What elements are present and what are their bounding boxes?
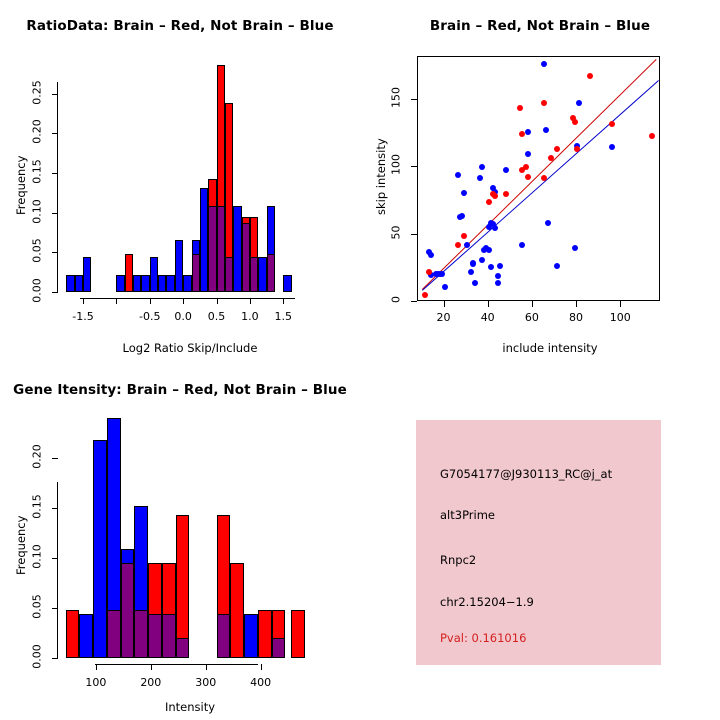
x-tick-label: 100 bbox=[76, 676, 116, 689]
scatter-point-brain bbox=[525, 174, 531, 180]
x-tick-mark bbox=[217, 298, 218, 304]
y-tick-label: 0.25 bbox=[31, 77, 44, 107]
histogram-bar-not-brain bbox=[233, 206, 241, 292]
ratio-hist-x-axis bbox=[80, 298, 295, 299]
histogram-bar-overlap bbox=[121, 563, 135, 658]
histogram-bar-not-brain bbox=[244, 614, 258, 658]
y-tick-mark bbox=[52, 558, 58, 559]
histogram-bar-not-brain bbox=[183, 275, 191, 292]
scatter-point-not-brain bbox=[543, 127, 549, 133]
x-tick-mark bbox=[183, 298, 184, 304]
info-gene-symbol: Rnpc2 bbox=[440, 553, 476, 567]
y-tick-mark bbox=[52, 133, 58, 134]
x-tick-mark bbox=[250, 298, 251, 304]
histogram-bar-not-brain bbox=[116, 275, 124, 292]
y-tick-label: 150 bbox=[390, 84, 403, 112]
scatter-point-brain bbox=[517, 105, 523, 111]
histogram-bar-overlap bbox=[217, 206, 225, 292]
scatter-point-not-brain bbox=[459, 213, 465, 219]
scatter-point-not-brain bbox=[497, 263, 503, 269]
histogram-bar-overlap bbox=[225, 257, 233, 292]
scatter-point-brain bbox=[548, 155, 554, 161]
info-probe-id: G7054177@J930113_RC@j_at bbox=[440, 467, 612, 481]
y-tick-label: 0.15 bbox=[31, 157, 44, 187]
histogram-bar-not-brain bbox=[283, 275, 291, 292]
scatter-point-brain bbox=[503, 191, 509, 197]
y-tick-mark bbox=[52, 94, 58, 95]
x-tick-mark bbox=[283, 298, 284, 304]
y-tick-label: 0.20 bbox=[31, 117, 44, 147]
y-tick-mark bbox=[411, 166, 417, 167]
regression-line bbox=[422, 80, 659, 291]
scatter-point-brain bbox=[422, 292, 428, 298]
figure-canvas: RatioData: Brain – Red, Not Brain – Blue… bbox=[0, 0, 720, 720]
scatter-point-not-brain bbox=[479, 257, 485, 263]
x-tick-label: 100 bbox=[602, 311, 638, 324]
scatter-point-not-brain bbox=[486, 247, 492, 253]
y-tick-label: 0.00 bbox=[31, 276, 44, 306]
y-tick-mark bbox=[411, 234, 417, 235]
x-tick-mark bbox=[488, 301, 489, 307]
ratio-hist-xlabel: Log2 Ratio Skip/Include bbox=[60, 341, 320, 355]
y-tick-mark bbox=[52, 658, 58, 659]
scatter-point-not-brain bbox=[554, 263, 560, 269]
x-tick-mark bbox=[261, 664, 262, 670]
scatter-point-not-brain bbox=[495, 273, 501, 279]
scatter-point-brain bbox=[519, 131, 525, 137]
scatter-xlabel: include intensity bbox=[420, 341, 680, 355]
y-tick-label: 0.10 bbox=[31, 196, 44, 226]
scatter-point-brain bbox=[523, 164, 529, 170]
histogram-bar-brain bbox=[230, 563, 244, 658]
x-tick-label: 400 bbox=[241, 676, 281, 689]
histogram-bar-brain bbox=[125, 254, 133, 292]
panel-gene-info: G7054177@J930113_RC@j_at alt3Prime Rnpc2… bbox=[416, 420, 661, 665]
scatter-point-brain bbox=[486, 199, 492, 205]
scatter-point-not-brain bbox=[479, 164, 485, 170]
info-locus: chr2.15204−1.9 bbox=[440, 595, 534, 609]
scatter-point-brain bbox=[609, 121, 615, 127]
histogram-bar-overlap bbox=[208, 206, 216, 292]
x-tick-mark bbox=[532, 301, 533, 307]
scatter-point-brain bbox=[572, 119, 578, 125]
y-tick-label: 50 bbox=[390, 218, 403, 246]
scatter-plot-area bbox=[417, 56, 660, 301]
y-tick-mark bbox=[52, 252, 58, 253]
histogram-bar-overlap bbox=[250, 257, 258, 292]
histogram-bar-overlap bbox=[272, 638, 286, 658]
x-tick-mark bbox=[116, 298, 117, 304]
y-tick-label: 0.05 bbox=[31, 592, 44, 622]
scatter-point-not-brain bbox=[461, 190, 467, 196]
histogram-bar-not-brain bbox=[175, 240, 183, 292]
scatter-point-brain bbox=[461, 233, 467, 239]
y-tick-label: 100 bbox=[390, 151, 403, 179]
scatter-point-not-brain bbox=[545, 220, 551, 226]
y-tick-label: 0.00 bbox=[31, 642, 44, 672]
histogram-bar-not-brain bbox=[141, 275, 149, 292]
scatter-point-brain bbox=[492, 193, 498, 199]
scatter-point-not-brain bbox=[455, 172, 461, 178]
x-tick-mark bbox=[444, 301, 445, 307]
histogram-bar-overlap bbox=[162, 614, 176, 658]
x-tick-label: 60 bbox=[514, 311, 550, 324]
scatter-ylabel: skip intensity bbox=[374, 138, 388, 215]
x-tick-label: -1.5 bbox=[65, 310, 101, 323]
ratio-hist-bars bbox=[63, 62, 310, 292]
gene-hist-x-axis bbox=[95, 664, 258, 665]
y-tick-label: 0.20 bbox=[31, 442, 44, 472]
x-tick-label: 200 bbox=[131, 676, 171, 689]
x-tick-label: 20 bbox=[426, 311, 462, 324]
x-tick-mark bbox=[206, 664, 207, 670]
x-tick-mark bbox=[83, 298, 84, 304]
histogram-bar-not-brain bbox=[158, 275, 166, 292]
y-tick-mark bbox=[52, 508, 58, 509]
info-event-type: alt3Prime bbox=[440, 508, 495, 522]
ratio-hist-plot-area bbox=[63, 62, 310, 292]
histogram-bar-not-brain bbox=[83, 257, 91, 292]
x-tick-mark bbox=[150, 298, 151, 304]
y-tick-mark bbox=[52, 608, 58, 609]
y-tick-mark bbox=[411, 99, 417, 100]
x-tick-label: 0.5 bbox=[199, 310, 235, 323]
x-tick-label: -0.5 bbox=[132, 310, 168, 323]
histogram-bar-not-brain bbox=[75, 275, 83, 292]
x-tick-mark bbox=[620, 301, 621, 307]
x-tick-mark bbox=[151, 664, 152, 670]
x-tick-label: 1.5 bbox=[265, 310, 301, 323]
scatter-point-brain bbox=[587, 73, 593, 79]
scatter-point-not-brain bbox=[442, 284, 448, 290]
panel-gene-histogram: Gene Itensity: Brain – Red, Not Brain – … bbox=[0, 360, 360, 720]
histogram-bar-not-brain bbox=[133, 275, 141, 292]
histogram-bar-brain bbox=[258, 610, 272, 658]
y-tick-label: 0.10 bbox=[31, 542, 44, 572]
histogram-bar-not-brain bbox=[200, 188, 208, 292]
scatter-point-not-brain bbox=[428, 252, 434, 258]
y-tick-mark bbox=[52, 213, 58, 214]
ratio-hist-ylabel: Frequency bbox=[14, 156, 28, 215]
scatter-points-layer bbox=[418, 57, 659, 300]
scatter-point-not-brain bbox=[609, 144, 615, 150]
scatter-point-brain bbox=[455, 242, 461, 248]
panel-scatter: Brain – Red, Not Brain – Blue skip inten… bbox=[360, 0, 720, 360]
histogram-bar-overlap bbox=[176, 638, 190, 658]
scatter-point-not-brain bbox=[503, 167, 509, 173]
y-tick-label: 0.15 bbox=[31, 492, 44, 522]
histogram-bar-overlap bbox=[134, 610, 148, 658]
scatter-point-not-brain bbox=[472, 280, 478, 286]
y-tick-mark bbox=[52, 292, 58, 293]
scatter-point-not-brain bbox=[477, 175, 483, 181]
y-tick-mark bbox=[52, 173, 58, 174]
gene-hist-xlabel: Intensity bbox=[60, 700, 320, 714]
histogram-bar-not-brain bbox=[66, 275, 74, 292]
histogram-bar-brain bbox=[66, 610, 80, 658]
histogram-bar-overlap bbox=[217, 614, 231, 658]
histogram-bar-not-brain bbox=[166, 275, 174, 292]
scatter-title: Brain – Red, Not Brain – Blue bbox=[360, 18, 720, 34]
histogram-bar-overlap bbox=[107, 610, 121, 658]
scatter-point-not-brain bbox=[576, 100, 582, 106]
gene-hist-ylabel: Frequency bbox=[14, 516, 28, 575]
y-tick-label: 0.05 bbox=[31, 236, 44, 266]
ratio-hist-y-axis bbox=[57, 82, 58, 292]
histogram-bar-not-brain bbox=[150, 257, 158, 292]
scatter-point-not-brain bbox=[468, 269, 474, 275]
histogram-bar-overlap bbox=[267, 254, 275, 292]
panel-ratio-histogram: RatioData: Brain – Red, Not Brain – Blue… bbox=[0, 0, 360, 360]
scatter-point-not-brain bbox=[492, 225, 498, 231]
ratio-hist-title: RatioData: Brain – Red, Not Brain – Blue bbox=[0, 18, 360, 34]
scatter-point-not-brain bbox=[488, 264, 494, 270]
scatter-point-brain bbox=[649, 133, 655, 139]
histogram-bar-not-brain bbox=[79, 614, 93, 658]
gene-hist-bars bbox=[63, 413, 310, 658]
histogram-bar-not-brain bbox=[93, 440, 107, 658]
scatter-point-not-brain bbox=[572, 245, 578, 251]
scatter-point-brain bbox=[541, 175, 547, 181]
scatter-point-not-brain bbox=[519, 242, 525, 248]
histogram-bar-overlap bbox=[148, 614, 162, 658]
y-tick-mark bbox=[52, 458, 58, 459]
gene-hist-title: Gene Itensity: Brain – Red, Not Brain – … bbox=[0, 382, 360, 398]
histogram-bar-overlap bbox=[242, 223, 250, 292]
gene-hist-plot-area bbox=[63, 413, 310, 658]
scatter-point-not-brain bbox=[541, 61, 547, 67]
histogram-bar-brain bbox=[291, 610, 305, 658]
scatter-point-brain bbox=[574, 146, 580, 152]
info-pvalue: Pval: 0.161016 bbox=[440, 631, 526, 645]
x-tick-label: 1.0 bbox=[232, 310, 268, 323]
histogram-bar-overlap bbox=[192, 254, 200, 292]
scatter-point-not-brain bbox=[525, 129, 531, 135]
x-tick-mark bbox=[96, 664, 97, 670]
scatter-point-not-brain bbox=[439, 271, 445, 277]
y-tick-mark bbox=[411, 301, 417, 302]
x-tick-mark bbox=[576, 301, 577, 307]
x-tick-label: 80 bbox=[558, 311, 594, 324]
scatter-point-brain bbox=[554, 146, 560, 152]
histogram-bar-brain bbox=[176, 515, 190, 658]
scatter-point-not-brain bbox=[495, 280, 501, 286]
x-tick-label: 0.0 bbox=[165, 310, 201, 323]
scatter-point-not-brain bbox=[525, 151, 531, 157]
y-tick-label: 0 bbox=[390, 286, 403, 314]
scatter-point-brain bbox=[541, 100, 547, 106]
histogram-bar-not-brain bbox=[258, 257, 266, 292]
x-tick-label: 300 bbox=[186, 676, 226, 689]
x-tick-label: 40 bbox=[470, 311, 506, 324]
